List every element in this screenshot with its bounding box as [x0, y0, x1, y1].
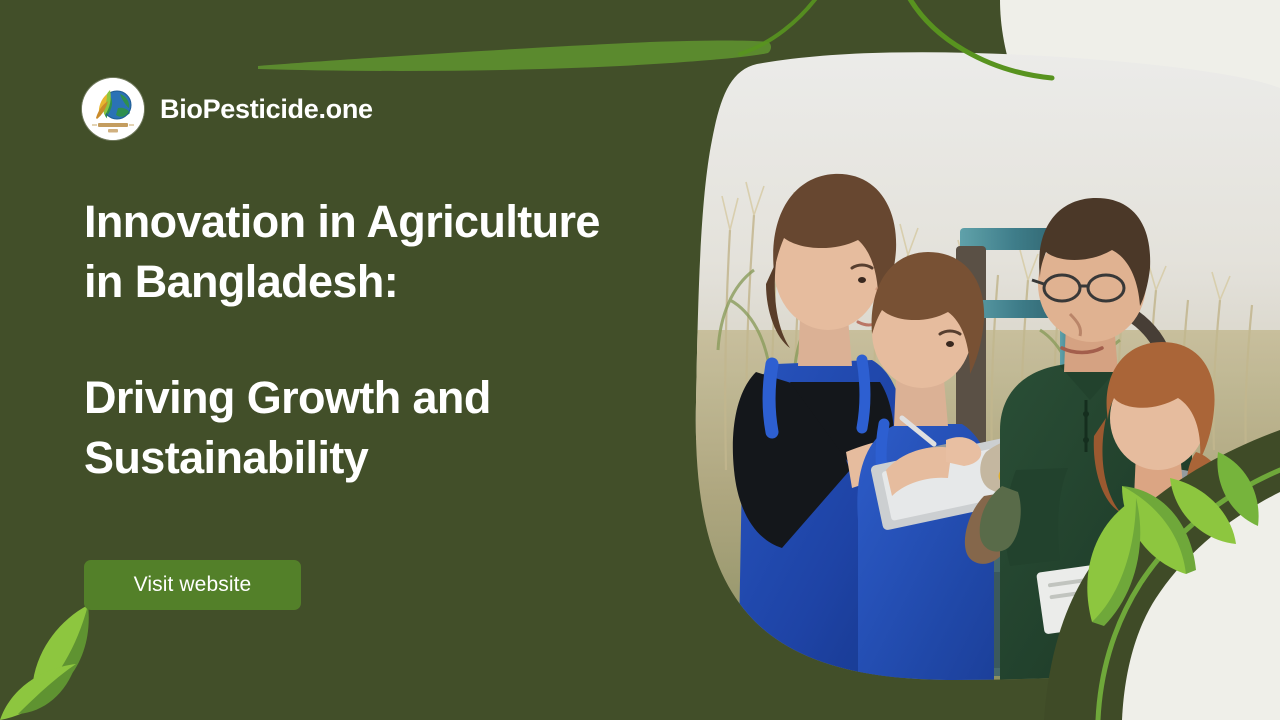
globe-leaf-logo-icon [82, 78, 144, 140]
promo-banner: BioPesticide.one Innovation in Agricultu… [0, 0, 1280, 720]
leaf-icon [33, 605, 89, 690]
leaf-icon [0, 664, 76, 720]
brand-logo-lockup[interactable]: BioPesticide.one [82, 78, 373, 140]
leaf-icon [1122, 486, 1196, 574]
brush-stroke-icon [258, 41, 771, 71]
page-title: Innovation in Agriculture in Bangladesh: [84, 192, 724, 312]
leaf-icon [1170, 452, 1259, 544]
headline-block: Innovation in Agriculture in Bangladesh:… [84, 192, 724, 487]
headline-line-2: in Bangladesh: [84, 252, 724, 312]
brand-name: BioPesticide.one [160, 96, 373, 123]
page-subtitle: Driving Growth and Sustainability [84, 368, 724, 488]
headline-line-1: Innovation in Agriculture [84, 192, 724, 252]
subheadline-line-2: Sustainability [84, 428, 724, 488]
subheadline-line-1: Driving Growth and [84, 368, 724, 428]
leaf-icon [1087, 498, 1140, 626]
visit-website-button[interactable]: Visit website [84, 560, 301, 610]
